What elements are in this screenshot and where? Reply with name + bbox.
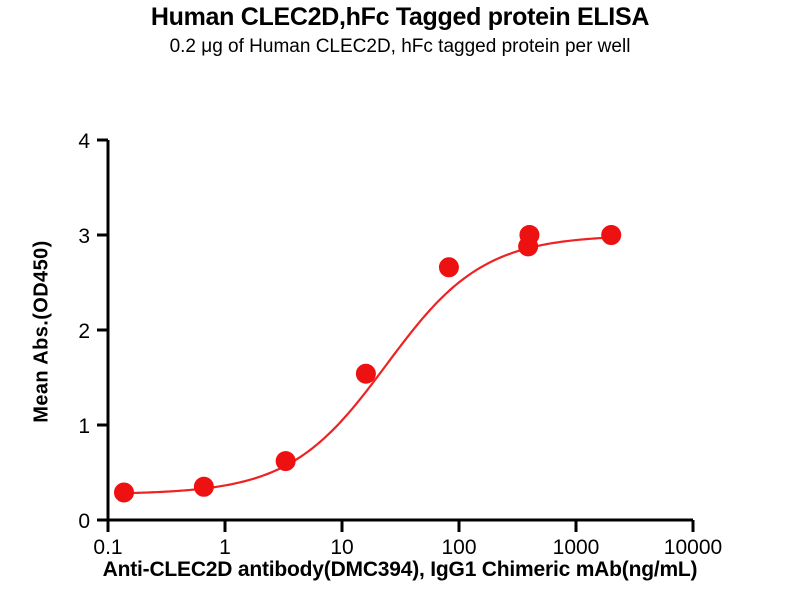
data-point xyxy=(194,477,213,496)
data-point xyxy=(115,483,134,502)
x-tick-label: 10000 xyxy=(664,536,722,559)
data-point xyxy=(520,226,539,245)
x-tick-label: 10 xyxy=(330,536,353,559)
y-tick-label: 0 xyxy=(78,510,90,533)
y-tick-label: 4 xyxy=(78,130,90,153)
x-tick-label: 1 xyxy=(219,536,231,559)
y-tick-label: 2 xyxy=(78,320,90,343)
data-markers xyxy=(115,226,621,502)
x-tick-label: 100 xyxy=(441,536,476,559)
x-tick-label: 0.1 xyxy=(93,536,122,559)
x-axis-ticks: 0.1110100100010000 xyxy=(93,520,722,559)
y-tick-label: 1 xyxy=(78,415,90,438)
y-tick-label: 3 xyxy=(78,225,90,248)
x-tick-label: 1000 xyxy=(553,536,600,559)
data-point xyxy=(356,364,375,383)
data-point xyxy=(602,226,621,245)
elisa-chart-figure: Human CLEC2D,hFc Tagged protein ELISA 0.… xyxy=(0,0,800,600)
data-point xyxy=(439,258,458,277)
plot-area: 01234 0.1110100100010000 xyxy=(0,0,800,600)
y-axis-ticks: 01234 xyxy=(78,130,108,533)
data-point xyxy=(276,452,295,471)
